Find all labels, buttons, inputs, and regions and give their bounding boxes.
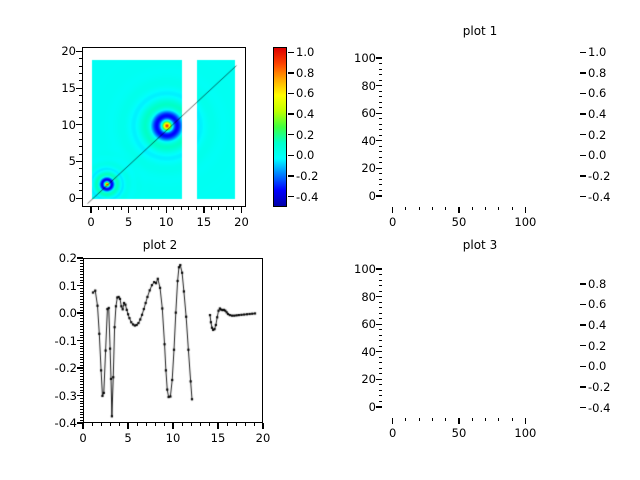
axis-tick xyxy=(445,207,446,210)
axis-tick xyxy=(376,57,382,58)
axis-tick xyxy=(80,324,83,325)
axis-tick xyxy=(80,365,83,366)
axis-tick xyxy=(580,52,586,53)
axis-tick xyxy=(113,207,114,210)
axis-tick xyxy=(379,307,382,308)
axis-tick-label: 100 xyxy=(330,51,376,65)
axis-tick-label: 0 xyxy=(30,191,76,205)
axis-tick xyxy=(379,96,382,97)
axis-tick xyxy=(77,257,83,258)
axis-tick xyxy=(200,423,201,426)
axis-tick xyxy=(288,93,294,94)
axis-tick-label: 80 xyxy=(330,290,376,304)
axis-tick-label: 20 xyxy=(330,161,376,175)
axis-tick xyxy=(379,329,382,330)
axis-tick xyxy=(580,345,586,346)
axis-tick xyxy=(80,332,83,333)
axis-tick-label: 15 xyxy=(196,431,240,445)
axis-tick xyxy=(236,423,237,426)
axis-tick-label: -0.3 xyxy=(31,389,77,403)
axis-tick xyxy=(379,401,382,402)
axis-tick xyxy=(80,302,83,303)
axis-tick xyxy=(173,207,174,210)
axis-tick xyxy=(80,269,83,270)
axis-tick xyxy=(80,288,83,289)
axis-tick xyxy=(76,124,82,125)
axis-tick xyxy=(376,406,382,407)
axis-tick-label: 5 xyxy=(106,431,150,445)
axis-tick xyxy=(485,418,486,421)
axis-tick xyxy=(458,418,459,424)
axis-tick-label: 1.0 xyxy=(588,45,632,59)
axis-tick xyxy=(498,207,499,210)
axis-tick xyxy=(580,113,586,114)
axis-tick xyxy=(158,207,159,210)
axis-tick xyxy=(376,324,382,325)
axis-tick xyxy=(172,423,173,429)
axis-tick xyxy=(80,406,83,407)
axis-tick-label: 0.2 xyxy=(588,339,632,353)
axis-tick xyxy=(188,207,189,210)
axis-tick xyxy=(445,418,446,421)
axis-tick xyxy=(379,390,382,391)
axis-tick-label: 0.2 xyxy=(588,128,632,142)
axis-tick xyxy=(379,173,382,174)
axis-tick xyxy=(376,195,382,196)
axis-tick xyxy=(376,113,382,114)
axis-tick xyxy=(288,196,294,197)
axis-tick xyxy=(379,118,382,119)
axis-tick-label: 0.8 xyxy=(588,66,632,80)
axis-tick-label: 15 xyxy=(30,81,76,95)
axis-tick xyxy=(80,274,83,275)
axis-tick xyxy=(80,346,83,347)
axis-tick xyxy=(80,329,83,330)
axis-tick xyxy=(379,80,382,81)
axis-tick xyxy=(110,423,111,426)
axis-tick xyxy=(580,134,586,135)
axis-tick xyxy=(379,346,382,347)
axis-tick-label: 0.0 xyxy=(588,148,632,162)
axis-tick xyxy=(79,154,82,155)
axis-tick xyxy=(79,58,82,59)
axis-tick-label: 5 xyxy=(30,154,76,168)
axis-tick xyxy=(379,91,382,92)
axis-tick xyxy=(379,190,382,191)
axis-tick xyxy=(379,373,382,374)
axis-tick xyxy=(580,155,586,156)
axis-tick xyxy=(288,113,294,114)
axis-tick-label: 40 xyxy=(330,345,376,359)
axis-tick xyxy=(379,313,382,314)
axis-tick xyxy=(379,124,382,125)
axis-tick-label: 0.4 xyxy=(588,318,632,332)
line-series-plot2 xyxy=(84,259,263,423)
axis-tick xyxy=(80,357,83,358)
axis-tick xyxy=(405,418,406,421)
axes-plot2 xyxy=(83,258,263,423)
axes-top-left xyxy=(82,47,246,207)
axis-tick xyxy=(80,271,83,272)
axis-tick xyxy=(76,198,82,199)
axis-tick xyxy=(203,207,204,213)
axis-tick xyxy=(79,183,82,184)
axis-tick xyxy=(226,207,227,210)
axis-tick xyxy=(80,403,83,404)
axis-tick xyxy=(80,379,83,380)
axis-tick xyxy=(80,337,83,338)
axis-tick-label: 0.6 xyxy=(588,297,632,311)
axis-tick xyxy=(227,423,228,426)
axis-tick xyxy=(379,69,382,70)
axis-tick-label: -0.2 xyxy=(588,169,632,183)
axis-tick xyxy=(432,418,433,421)
axis-tick-label: 0.0 xyxy=(31,306,77,320)
axis-tick xyxy=(151,207,152,210)
axis-tick xyxy=(209,423,210,426)
axis-tick-label: 10 xyxy=(151,431,195,445)
panel-title-plot2: plot 2 xyxy=(0,238,320,252)
axis-tick xyxy=(127,423,128,429)
axis-tick xyxy=(79,95,82,96)
axis-tick-label: 0 xyxy=(330,400,376,414)
axis-tick xyxy=(164,423,165,426)
axis-tick xyxy=(92,423,93,426)
axis-tick-label: 0.6 xyxy=(588,86,632,100)
axis-tick xyxy=(106,207,107,210)
axis-tick xyxy=(379,318,382,319)
axis-tick xyxy=(376,140,382,141)
axis-tick xyxy=(79,66,82,67)
axis-tick xyxy=(121,207,122,210)
axis-tick xyxy=(80,348,83,349)
axis-tick xyxy=(79,80,82,81)
axis-tick xyxy=(80,277,83,278)
axis-tick xyxy=(136,207,137,210)
axis-tick xyxy=(376,85,382,86)
axis-tick xyxy=(79,110,82,111)
axis-tick xyxy=(288,134,294,135)
axis-tick xyxy=(580,407,586,408)
axis-tick-label: 40 xyxy=(330,134,376,148)
axis-tick xyxy=(80,392,83,393)
axis-tick xyxy=(80,307,83,308)
axis-tick xyxy=(379,184,382,185)
axis-tick-label: 20 xyxy=(330,372,376,386)
axis-tick xyxy=(79,139,82,140)
axis-tick-label: 100 xyxy=(503,215,547,229)
axis-tick xyxy=(472,207,473,210)
axis-tick xyxy=(512,207,513,210)
axis-tick xyxy=(80,315,83,316)
axis-tick xyxy=(101,423,102,426)
axis-tick-label: 20 xyxy=(30,44,76,58)
axis-tick xyxy=(80,296,83,297)
axis-tick xyxy=(525,418,526,424)
axis-tick xyxy=(379,179,382,180)
axis-tick xyxy=(80,376,83,377)
axis-tick xyxy=(498,418,499,421)
axis-tick xyxy=(288,175,294,176)
axis-tick xyxy=(405,207,406,210)
figure-canvas: 0510152005101520 -0.4-0.20.00.20.40.60.8… xyxy=(0,0,640,480)
axis-tick xyxy=(77,367,83,368)
axis-tick xyxy=(80,373,83,374)
axis-tick xyxy=(196,207,197,210)
axis-tick xyxy=(458,207,459,213)
axis-tick xyxy=(79,73,82,74)
axis-tick xyxy=(379,135,382,136)
axis-tick xyxy=(80,266,83,267)
panel-bottom-right: plot 3 050100020406080100 -0.4-0.20.00.2… xyxy=(320,240,640,480)
axis-tick xyxy=(512,418,513,421)
axis-tick-label: 100 xyxy=(503,426,547,440)
axis-tick-label: -0.4 xyxy=(31,416,77,430)
axis-tick xyxy=(376,268,382,269)
axis-tick xyxy=(580,304,586,305)
colorbar-top-left xyxy=(273,47,287,207)
axis-tick xyxy=(77,395,83,396)
axis-tick xyxy=(80,420,83,421)
axis-tick xyxy=(80,362,83,363)
axis-tick-label: -0.4 xyxy=(588,401,632,415)
axis-tick xyxy=(80,381,83,382)
axis-tick xyxy=(77,285,83,286)
panel-bottom-left: plot 2 05101520-0.4-0.3-0.2-0.10.00.10.2 xyxy=(0,240,320,480)
axis-tick-label: -0.4 xyxy=(588,190,632,204)
axis-tick xyxy=(419,207,420,210)
axis-tick xyxy=(254,423,255,426)
axis-tick xyxy=(76,51,82,52)
axis-tick xyxy=(80,401,83,402)
axis-tick xyxy=(76,88,82,89)
axis-tick-label: 0.4 xyxy=(588,107,632,121)
panel-top-right: plot 1 050100020406080100 -0.4-0.20.00.2… xyxy=(320,0,640,240)
axis-tick xyxy=(79,102,82,103)
axis-tick xyxy=(80,263,83,264)
axis-tick-label: 0 xyxy=(371,215,415,229)
axis-tick xyxy=(472,418,473,421)
axis-tick xyxy=(80,304,83,305)
axis-tick xyxy=(128,207,129,213)
axis-tick xyxy=(580,72,586,73)
axis-tick xyxy=(379,362,382,363)
axis-tick xyxy=(119,423,120,426)
axis-tick xyxy=(379,395,382,396)
axis-tick xyxy=(580,196,586,197)
axis-tick-label: 0 xyxy=(61,431,105,445)
axis-tick xyxy=(376,379,382,380)
axis-tick-label: 0 xyxy=(371,426,415,440)
axis-tick xyxy=(80,280,83,281)
axis-tick xyxy=(432,207,433,210)
axis-tick-label: 60 xyxy=(330,317,376,331)
panel-title-plot1: plot 1 xyxy=(320,24,640,38)
axis-tick xyxy=(80,291,83,292)
axis-tick-label: -0.2 xyxy=(588,380,632,394)
axis-tick xyxy=(379,162,382,163)
axis-tick xyxy=(376,351,382,352)
axis-tick xyxy=(143,207,144,210)
axis-tick xyxy=(80,354,83,355)
axis-tick xyxy=(379,157,382,158)
axis-tick xyxy=(245,423,246,426)
axis-tick xyxy=(79,168,82,169)
axis-tick xyxy=(182,423,183,426)
axis-tick xyxy=(155,423,156,426)
axis-tick-label: 10 xyxy=(30,118,76,132)
axis-tick xyxy=(80,384,83,385)
axis-tick-label: 0 xyxy=(330,189,376,203)
axis-tick-label: -0.1 xyxy=(31,334,77,348)
axis-tick xyxy=(79,176,82,177)
axis-tick xyxy=(77,340,83,341)
axis-tick xyxy=(580,366,586,367)
axis-tick xyxy=(485,207,486,210)
axis-tick xyxy=(379,102,382,103)
axis-tick xyxy=(392,207,393,213)
axis-tick xyxy=(262,423,263,429)
axis-tick xyxy=(379,63,382,64)
axis-tick xyxy=(580,324,586,325)
axis-tick xyxy=(191,423,192,426)
axis-tick xyxy=(137,423,138,426)
axis-tick xyxy=(77,312,83,313)
axis-tick-label: 0.1 xyxy=(31,279,77,293)
axis-tick-label: 100 xyxy=(330,262,376,276)
axis-tick-label: 20 xyxy=(241,431,285,445)
axis-tick-label: 50 xyxy=(437,215,481,229)
axis-tick xyxy=(80,351,83,352)
axis-tick-label: -0.2 xyxy=(31,361,77,375)
axis-tick xyxy=(379,357,382,358)
axis-tick xyxy=(379,274,382,275)
axis-tick xyxy=(80,321,83,322)
axis-tick-label: 80 xyxy=(330,79,376,93)
axis-tick xyxy=(80,318,83,319)
axis-tick xyxy=(80,414,83,415)
axis-tick xyxy=(376,296,382,297)
axis-tick xyxy=(419,418,420,421)
axis-tick-label: 0.8 xyxy=(588,277,632,291)
axis-tick xyxy=(80,260,83,261)
axis-tick xyxy=(79,146,82,147)
axis-tick-label: 20 xyxy=(219,215,263,229)
axis-tick xyxy=(80,335,83,336)
axis-tick xyxy=(580,386,586,387)
axis-tick xyxy=(241,207,242,213)
axis-tick xyxy=(80,409,83,410)
axis-tick xyxy=(166,207,167,213)
axis-tick xyxy=(79,117,82,118)
axis-tick xyxy=(379,74,382,75)
axis-tick xyxy=(379,291,382,292)
axis-tick xyxy=(233,207,234,210)
axis-tick xyxy=(90,207,91,213)
axis-tick xyxy=(580,93,586,94)
axis-tick xyxy=(80,343,83,344)
axis-tick xyxy=(80,359,83,360)
heatmap-image-top-left xyxy=(83,48,246,207)
axis-tick xyxy=(379,151,382,152)
axis-tick xyxy=(79,132,82,133)
axis-tick xyxy=(379,129,382,130)
axis-tick xyxy=(392,418,393,424)
axis-tick-label: 60 xyxy=(330,106,376,120)
axis-tick xyxy=(379,107,382,108)
axis-tick xyxy=(379,335,382,336)
axis-tick xyxy=(379,146,382,147)
axis-tick xyxy=(80,293,83,294)
axis-tick xyxy=(376,168,382,169)
axis-tick xyxy=(80,299,83,300)
panel-top-left: 0510152005101520 -0.4-0.20.00.20.40.60.8… xyxy=(0,0,320,240)
axis-tick xyxy=(379,280,382,281)
axis-tick xyxy=(77,422,83,423)
axis-tick xyxy=(80,370,83,371)
axis-tick xyxy=(288,52,294,53)
axis-tick-label: 0.2 xyxy=(31,251,77,265)
axis-tick xyxy=(580,283,586,284)
axis-tick xyxy=(288,72,294,73)
axis-tick xyxy=(79,190,82,191)
axis-tick xyxy=(217,423,218,429)
axis-tick-label: 0.0 xyxy=(588,359,632,373)
axis-tick xyxy=(379,384,382,385)
axis-tick xyxy=(80,387,83,388)
axis-tick xyxy=(80,412,83,413)
axis-tick xyxy=(379,285,382,286)
axis-tick xyxy=(80,390,83,391)
axis-tick xyxy=(76,161,82,162)
axis-tick xyxy=(288,155,294,156)
axis-tick xyxy=(98,207,99,210)
axis-tick xyxy=(80,398,83,399)
axis-tick xyxy=(82,423,83,429)
panel-title-plot3: plot 3 xyxy=(320,238,640,252)
axis-tick xyxy=(80,282,83,283)
axis-tick xyxy=(181,207,182,210)
axis-tick xyxy=(525,207,526,213)
axis-tick xyxy=(379,340,382,341)
axis-tick xyxy=(146,423,147,426)
axis-tick xyxy=(80,326,83,327)
axis-tick xyxy=(379,302,382,303)
axis-tick xyxy=(218,207,219,210)
axis-tick-label: 50 xyxy=(437,426,481,440)
axis-tick xyxy=(80,417,83,418)
axis-tick xyxy=(211,207,212,210)
axis-tick xyxy=(580,175,586,176)
axis-tick xyxy=(80,310,83,311)
axis-tick xyxy=(379,368,382,369)
